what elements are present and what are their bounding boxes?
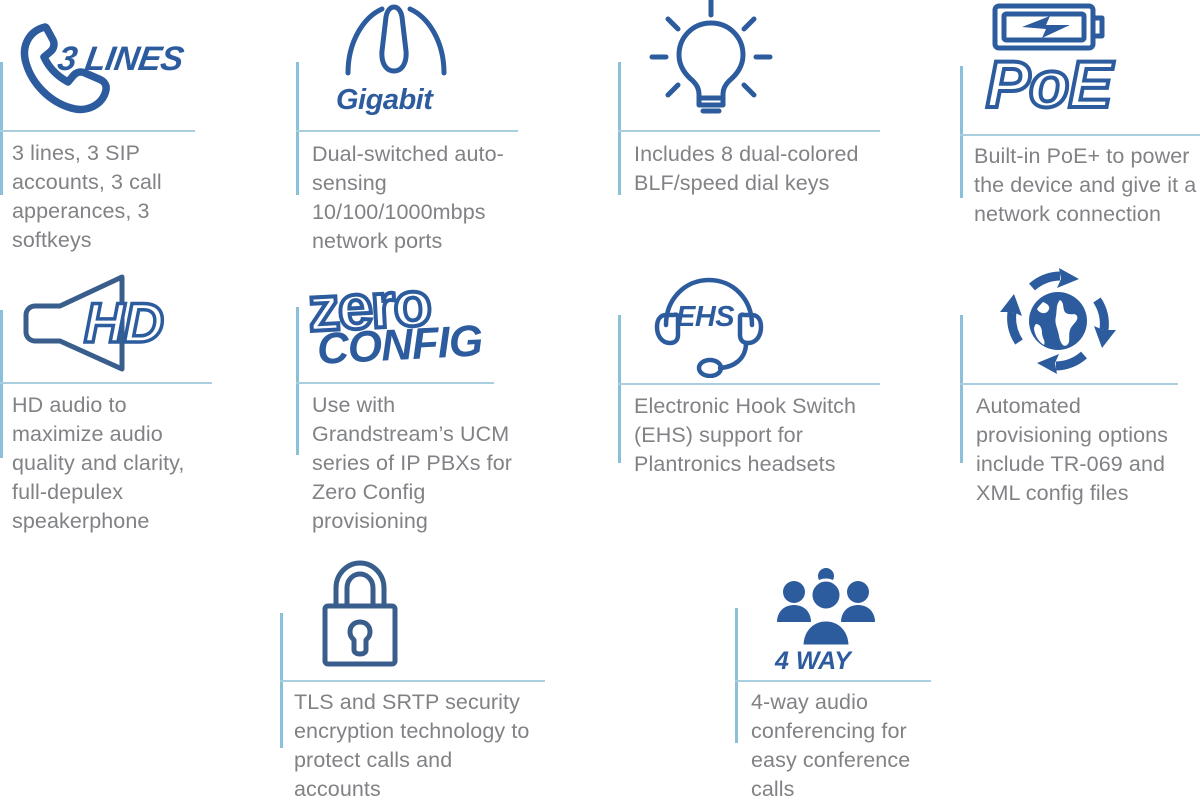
card-vertical-rule bbox=[0, 62, 3, 195]
globe-sync-arrows-icon bbox=[998, 266, 1118, 381]
card-wordmark: PoE bbox=[986, 48, 1111, 120]
card-vertical-rule bbox=[735, 608, 738, 743]
feature-card-security: TLS and SRTP security encryption technol… bbox=[280, 555, 580, 792]
card-vertical-rule bbox=[0, 310, 3, 458]
icon-area bbox=[336, 4, 476, 84]
card-wordmark: 4 WAY bbox=[775, 647, 851, 676]
card-vertical-rule bbox=[296, 62, 299, 195]
card-description: Use with Grandstream’s UCM series of IP … bbox=[312, 391, 537, 536]
card-description: Built-in PoE+ to power the device and gi… bbox=[974, 142, 1200, 229]
card-description: Includes 8 dual-colored BLF/speed dial k… bbox=[634, 140, 894, 198]
card-vertical-rule bbox=[960, 66, 963, 198]
people-group-icon bbox=[773, 566, 879, 653]
feature-card-blf-keys: Includes 8 dual-colored BLF/speed dial k… bbox=[618, 0, 938, 265]
lightbulb-icon bbox=[646, 0, 776, 122]
card-vertical-rule bbox=[296, 307, 299, 455]
feature-card-four-way: 4 WAY 4-way audio conferencing for easy … bbox=[735, 555, 995, 792]
card-vertical-rule bbox=[618, 62, 621, 195]
card-wordmark: 3 LINES bbox=[55, 40, 186, 79]
card-vertical-rule bbox=[960, 315, 963, 463]
card-description: 3 lines, 3 SIP accounts, 3 call apperanc… bbox=[12, 139, 192, 255]
zero-wordmark-bottom: CONFIG bbox=[316, 318, 483, 373]
padlock-icon bbox=[320, 560, 400, 675]
feature-card-poe: PoE Built-in PoE+ to power the device an… bbox=[960, 0, 1200, 265]
feature-card-hd-audio: HD HD audio to maximize audio quality an… bbox=[0, 265, 280, 555]
feature-grid: 3 LINES 3 lines, 3 SIP accounts, 3 call … bbox=[0, 0, 1200, 792]
card-horizontal-rule bbox=[280, 680, 545, 682]
card-wordmark: HD bbox=[84, 290, 163, 355]
feature-card-provisioning: Automated provisioning options include T… bbox=[960, 265, 1200, 555]
icon-area bbox=[646, 4, 796, 122]
card-horizontal-rule bbox=[0, 130, 195, 132]
icon-area bbox=[773, 565, 903, 653]
feature-card-zero-config: zero CONFIG Use with Grandstream’s UCM s… bbox=[296, 265, 596, 555]
card-horizontal-rule bbox=[960, 134, 1200, 136]
feature-card-three-lines: 3 LINES 3 lines, 3 SIP accounts, 3 call … bbox=[0, 0, 280, 265]
card-horizontal-rule bbox=[618, 130, 880, 132]
card-description: 4-way audio conferencing for easy confer… bbox=[751, 688, 951, 804]
card-horizontal-rule bbox=[296, 130, 518, 132]
card-horizontal-rule bbox=[618, 383, 880, 385]
card-wordmark: Gigabit bbox=[336, 84, 432, 117]
card-horizontal-rule bbox=[296, 382, 494, 384]
card-horizontal-rule bbox=[960, 383, 1178, 385]
card-description: Dual-switched auto-sensing 10/100/1000mb… bbox=[312, 140, 527, 256]
card-description: TLS and SRTP security encryption technol… bbox=[294, 688, 542, 804]
card-description: HD audio to maximize audio quality and c… bbox=[12, 391, 222, 536]
feature-card-ehs: EHS Electronic Hook Switch (EHS) support… bbox=[618, 265, 938, 555]
feature-card-gigabit: Gigabit Dual-switched auto-sensing 10/10… bbox=[296, 0, 596, 265]
card-vertical-rule bbox=[618, 315, 621, 463]
speedometer-gauge-icon bbox=[336, 1, 456, 84]
card-wordmark: EHS bbox=[676, 301, 734, 334]
card-description: Automated provisioning options include T… bbox=[976, 392, 1198, 508]
card-description: Electronic Hook Switch (EHS) support for… bbox=[634, 392, 894, 479]
card-horizontal-rule bbox=[0, 382, 212, 384]
icon-area bbox=[320, 563, 450, 675]
icon-area bbox=[998, 271, 1128, 381]
card-horizontal-rule bbox=[735, 680, 931, 682]
